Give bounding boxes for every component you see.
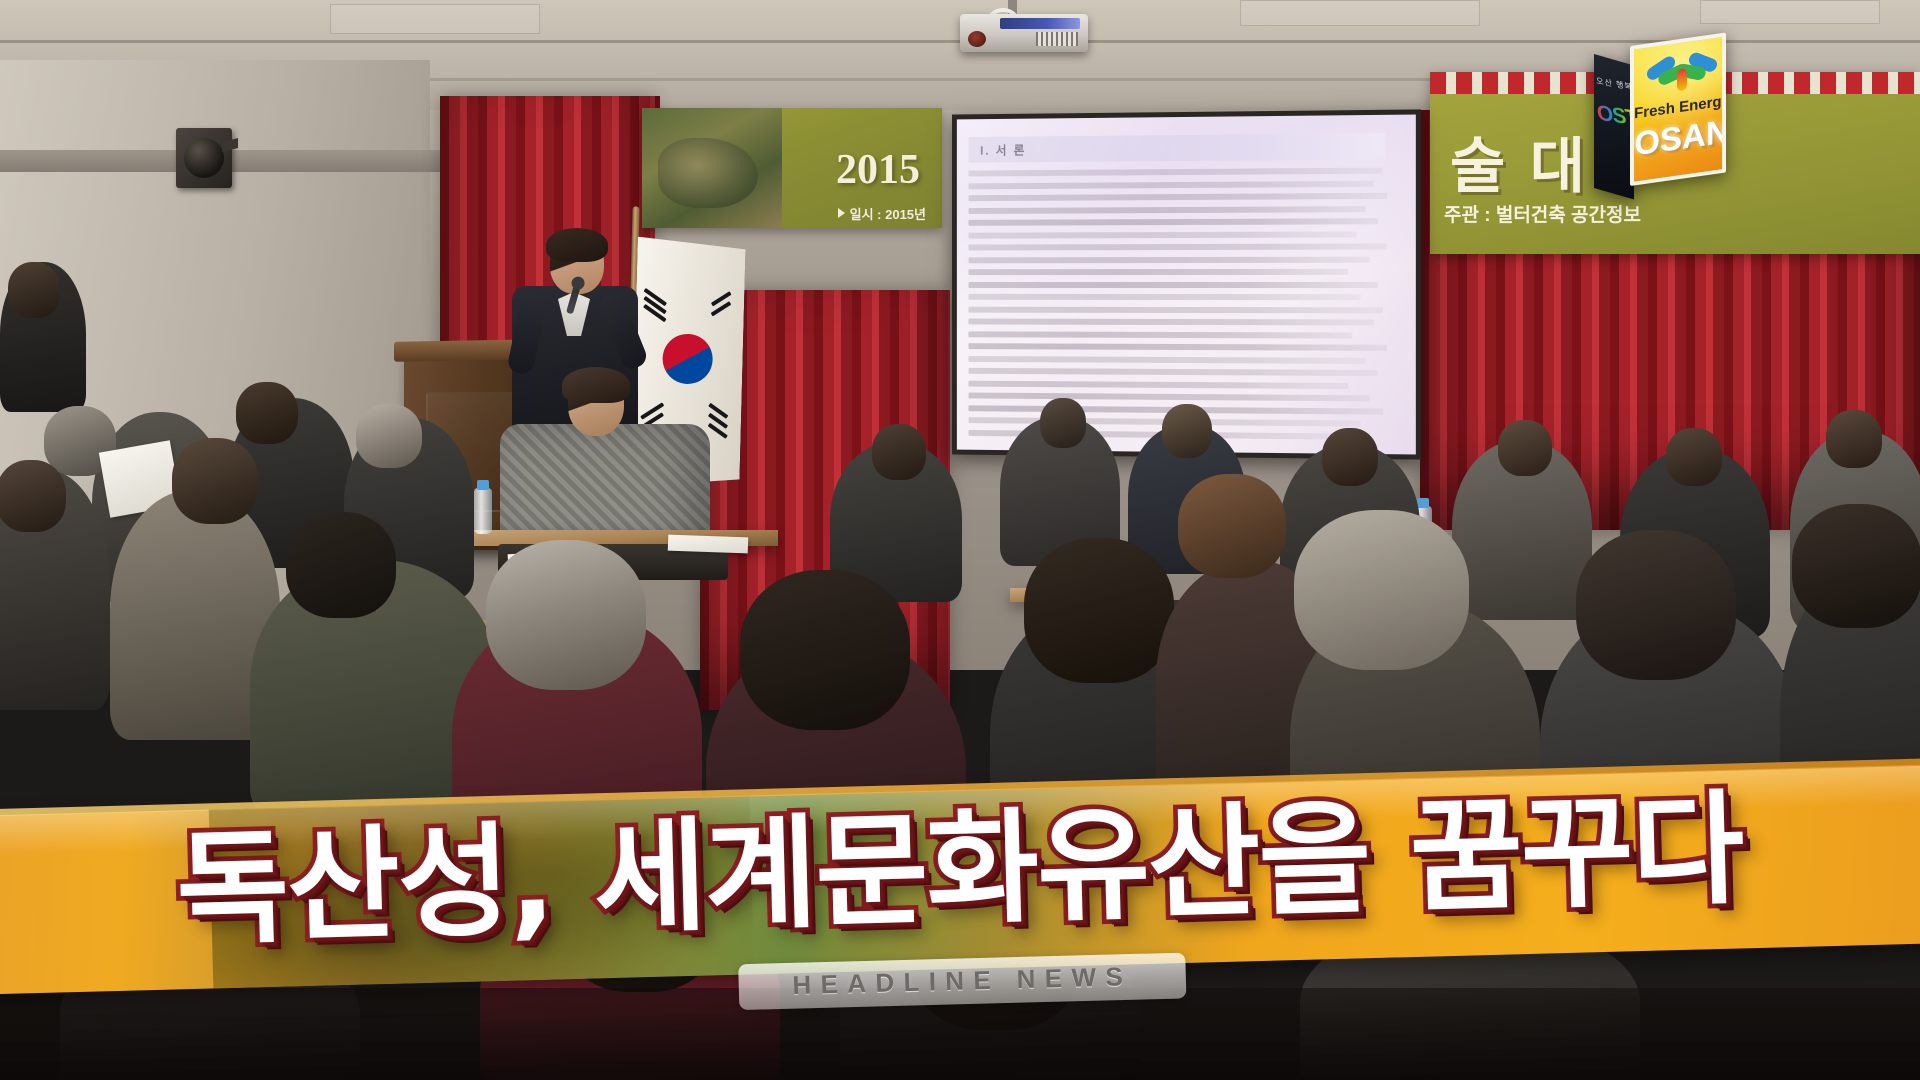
slide-text-line [968,281,1378,287]
banner-date-text: 일시 : 2015년 [850,207,926,222]
slide-text-line [968,368,1378,376]
audience-head [0,460,66,532]
banner-date: 일시 : 2015년 [838,204,926,223]
slide-heading: I. 서 론 [968,133,1385,163]
audience-head [1024,538,1174,683]
slide-text-line [968,180,1373,189]
slide-text-line [968,193,1386,201]
channel-call-sign: OSTV [1596,101,1634,131]
slide-text-line [968,243,1386,250]
audience-head [172,438,258,524]
ceiling-projector-icon [960,14,1088,52]
event-banner-left: 2015 일시 : 2015년 [642,108,942,228]
slide-text-line [968,294,1360,300]
channel-tagline-small: 오산 행복한 인터넷방송 [1596,75,1634,103]
audience-head-hat [1178,474,1286,578]
audience-head [1322,428,1378,486]
audience-head [486,540,646,690]
audience-head [872,424,926,480]
slide-text-line [968,218,1378,226]
triangle-bullet-icon [838,208,845,218]
audience-head [356,404,422,468]
slide-text-line [968,306,1382,313]
audience-head [286,512,396,618]
banner-year: 2015 [836,146,920,194]
audience-head [236,382,298,444]
station-logo-bug: 오산 행복한 인터넷방송 OSTV Fresh Energy OSAN [1594,46,1726,194]
banner-right-title: 술 대 [1450,118,1589,205]
slide-text-line [968,331,1352,338]
slide-text-line [968,319,1373,326]
audience-head [1498,420,1552,476]
banner-landscape-photo [642,108,782,228]
logo-side-face: 오산 행복한 인터넷방송 OSTV [1594,54,1634,199]
broadcast-frame: 2015 일시 : 2015년 술 대 주관 : 벌터건축 공간정보 I. 서 … [0,0,1920,1080]
water-bottle [474,488,492,534]
slide-text-line [968,343,1386,351]
audience-head [1666,428,1722,486]
slide-text-line [968,206,1365,214]
audience-head [8,262,60,318]
audience-head [1294,510,1469,670]
audience-head [1162,404,1212,458]
wall-speaker-icon [176,128,232,188]
document-paper [668,535,749,554]
slide-text-line [968,269,1347,275]
slide-heading-text: I. 서 론 [980,141,1026,158]
headline-news-label: HEADLINE NEWS [792,962,1132,1001]
slide-text-line [968,393,1369,402]
audience-head [1576,530,1736,680]
slide-text-line [968,380,1347,388]
logo-front-face: Fresh Energy OSAN [1630,33,1726,186]
audience-head [740,570,910,730]
audience-head [1040,398,1086,448]
banner-organizer: 주관 : 벌터건축 공간정보 [1444,200,1641,227]
slide-text-line [968,256,1369,263]
audience-head [1826,410,1882,468]
slide-text-line [968,168,1382,177]
audience-head [1792,504,1920,628]
slide-text-line [968,231,1356,238]
slide-text-line [968,356,1365,364]
